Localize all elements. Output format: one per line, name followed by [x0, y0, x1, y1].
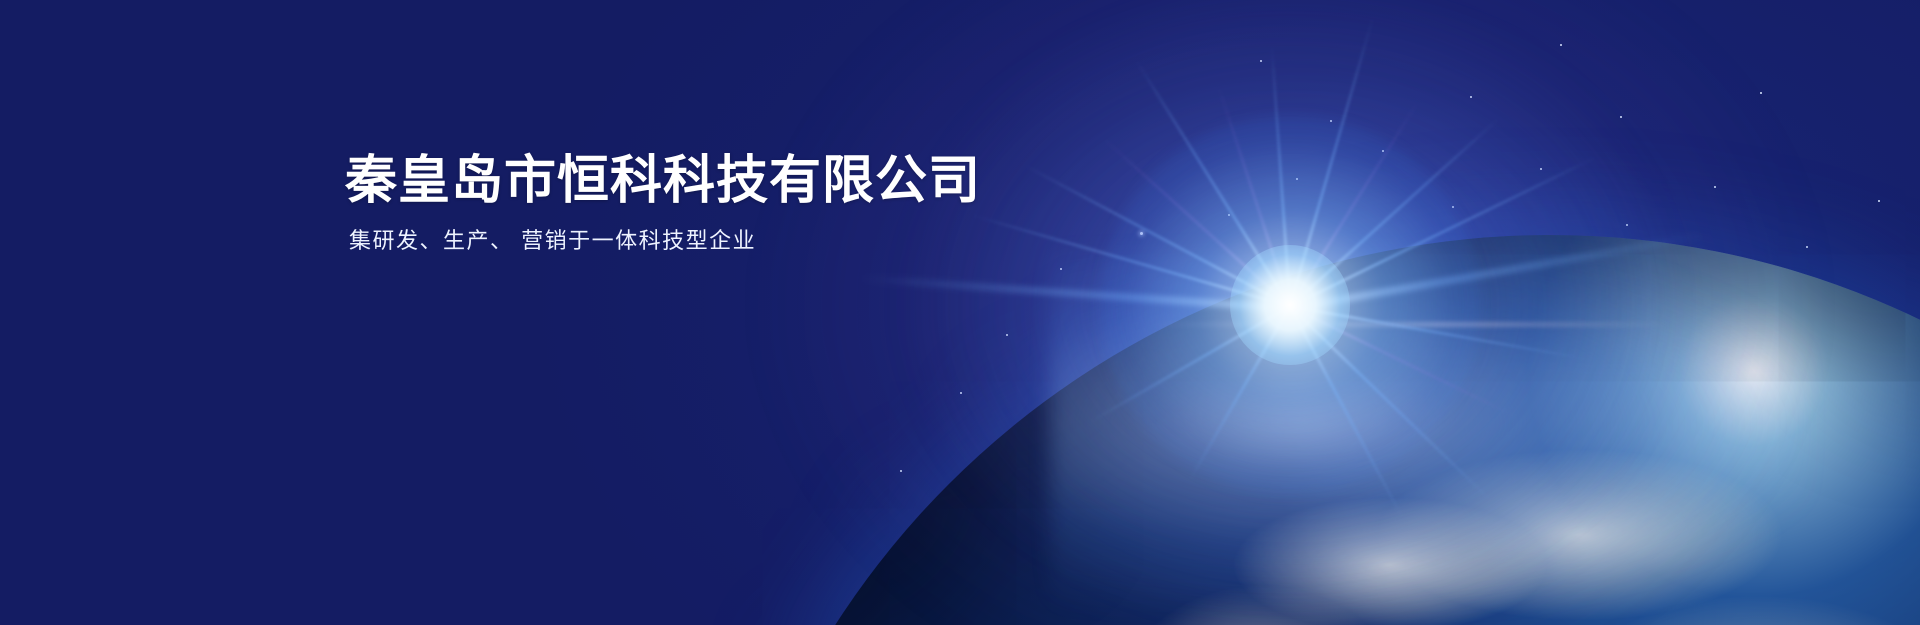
- company-headline: 秦皇岛市恒科科技有限公司: [345, 152, 981, 210]
- banner-text: 秦皇岛市恒科科技有限公司 集研发、生产、 营销于一体科技型企业: [345, 152, 981, 257]
- company-subline: 集研发、生产、 营销于一体科技型企业: [349, 226, 981, 257]
- flare-core-glow: [1230, 245, 1350, 365]
- hero-banner: 秦皇岛市恒科科技有限公司 集研发、生产、 营销于一体科技型企业: [0, 0, 1920, 625]
